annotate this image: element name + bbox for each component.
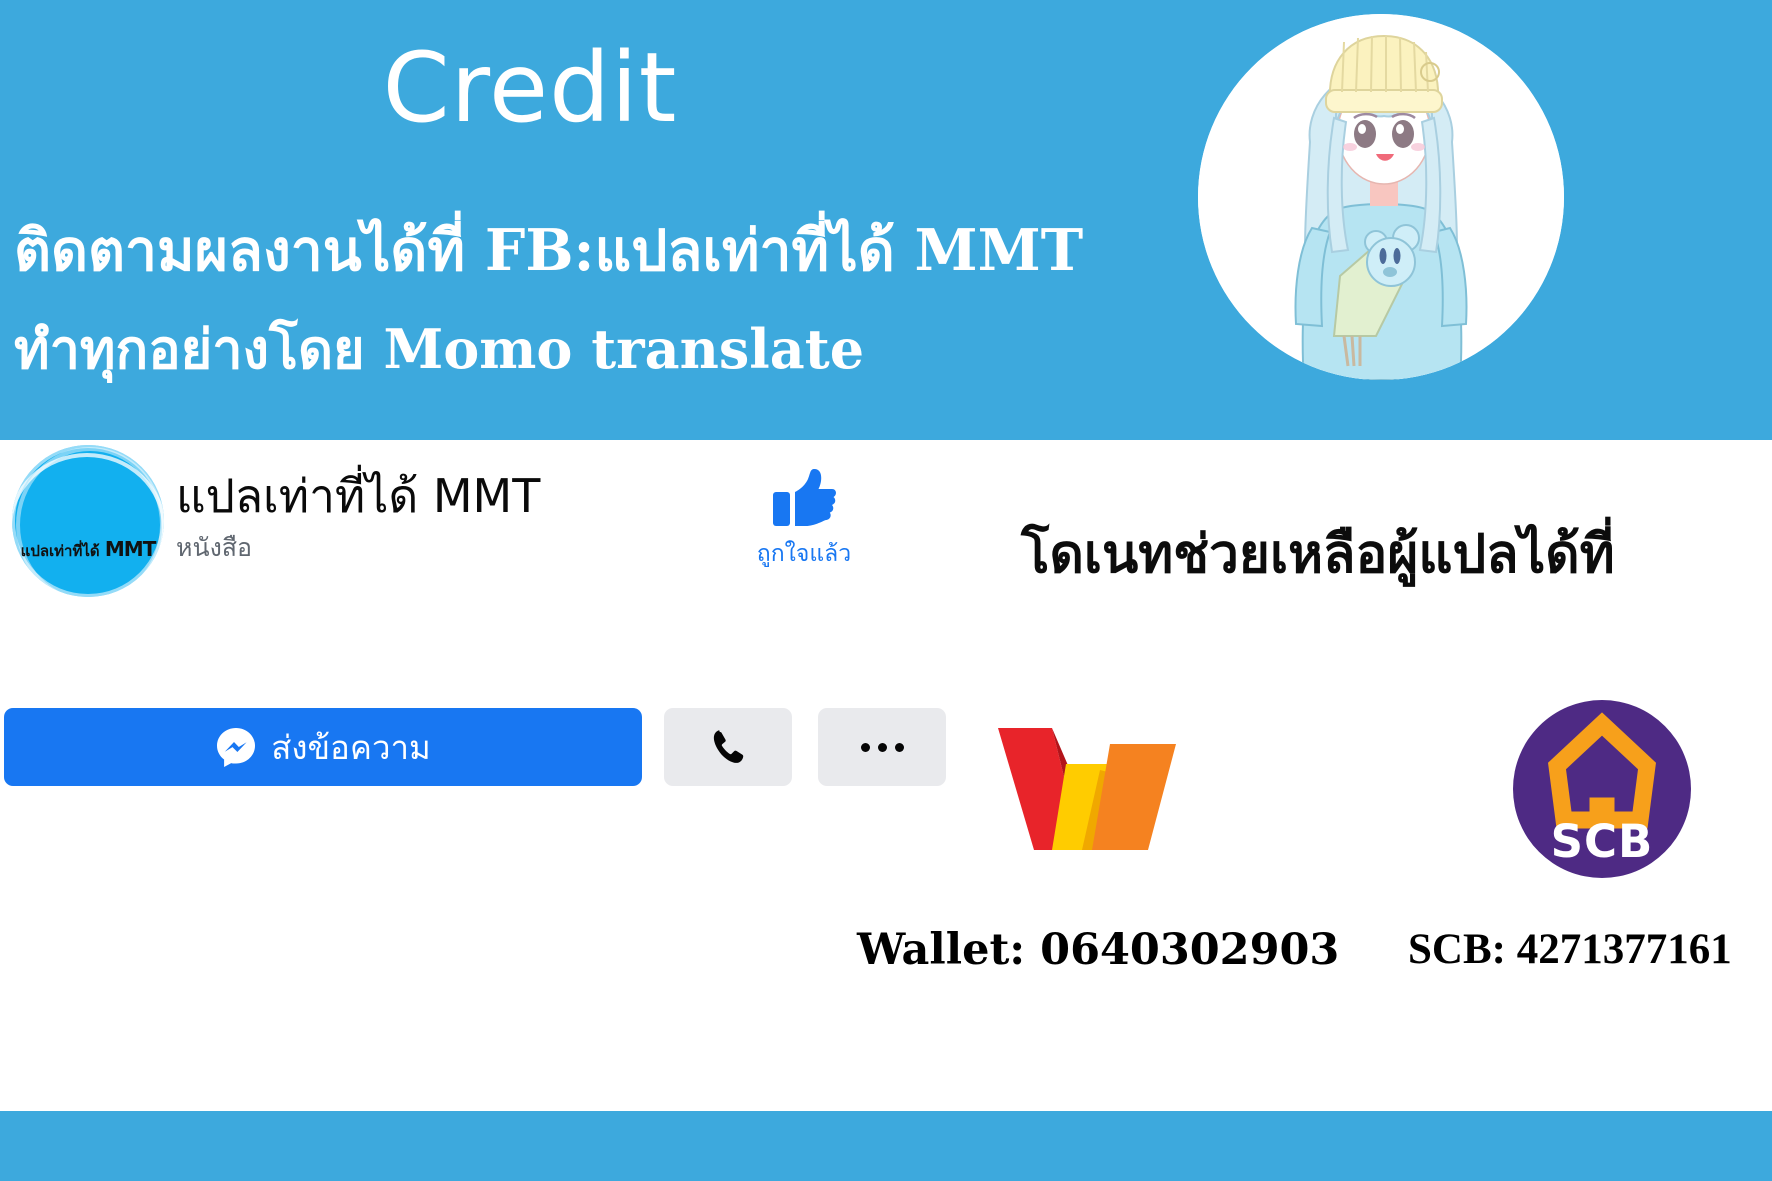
call-button[interactable] [664,708,792,786]
donate-heading: โดเนทช่วยเหลือผู้แปลได้ที่ [1021,512,1615,596]
page-avatar[interactable]: แปลเท่าที่ได้ MMT [12,445,164,597]
messenger-icon [215,726,257,768]
banner-credit-line-2: ทำทุกอย่างโดย Momo translate [14,306,864,392]
send-message-label: ส่งข้อความ [271,721,431,774]
scb-logo-label: SCB [1513,815,1691,868]
page-title: แปลเท่าที่ได้ MMT [176,460,540,533]
banner-title: Credit [0,40,1060,136]
wallet-account-number: Wallet: 0640302903 [857,925,1339,975]
send-message-button[interactable]: ส่งข้อความ [4,708,642,786]
bottom-bar [0,1111,1772,1181]
credit-card-page: Credit ติดตามผลงานได้ที่ FB:แปลเท่าที่ได… [0,0,1772,1181]
phone-icon [708,727,748,767]
liked-label: ถูกใจแล้ว [740,536,868,572]
ellipsis-icon [861,743,904,752]
avatar-logo-text: แปลเท่าที่ได้ MMT [12,537,164,563]
page-category: หนังสือ [176,528,252,568]
scb-account-number: SCB: 4271377161 [1408,925,1732,974]
avatar-logo-mmt: MMT [105,537,155,561]
avatar-logo-thai: แปลเท่าที่ได้ [21,542,100,560]
character-avatar [1198,14,1564,380]
liked-status[interactable]: ถูกใจแล้ว [740,468,868,572]
scb-bank-logo: SCB [1513,700,1691,878]
anime-girl-illustration [1198,14,1564,380]
more-options-button[interactable] [818,708,946,786]
avatar-ring-inner [16,447,164,597]
truemoney-wallet-logo [996,726,1178,852]
banner-credit-line-1: ติดตามผลงานได้ที่ FB:แปลเท่าที่ได้ MMT [14,206,1083,296]
thumbs-up-icon [771,468,837,530]
